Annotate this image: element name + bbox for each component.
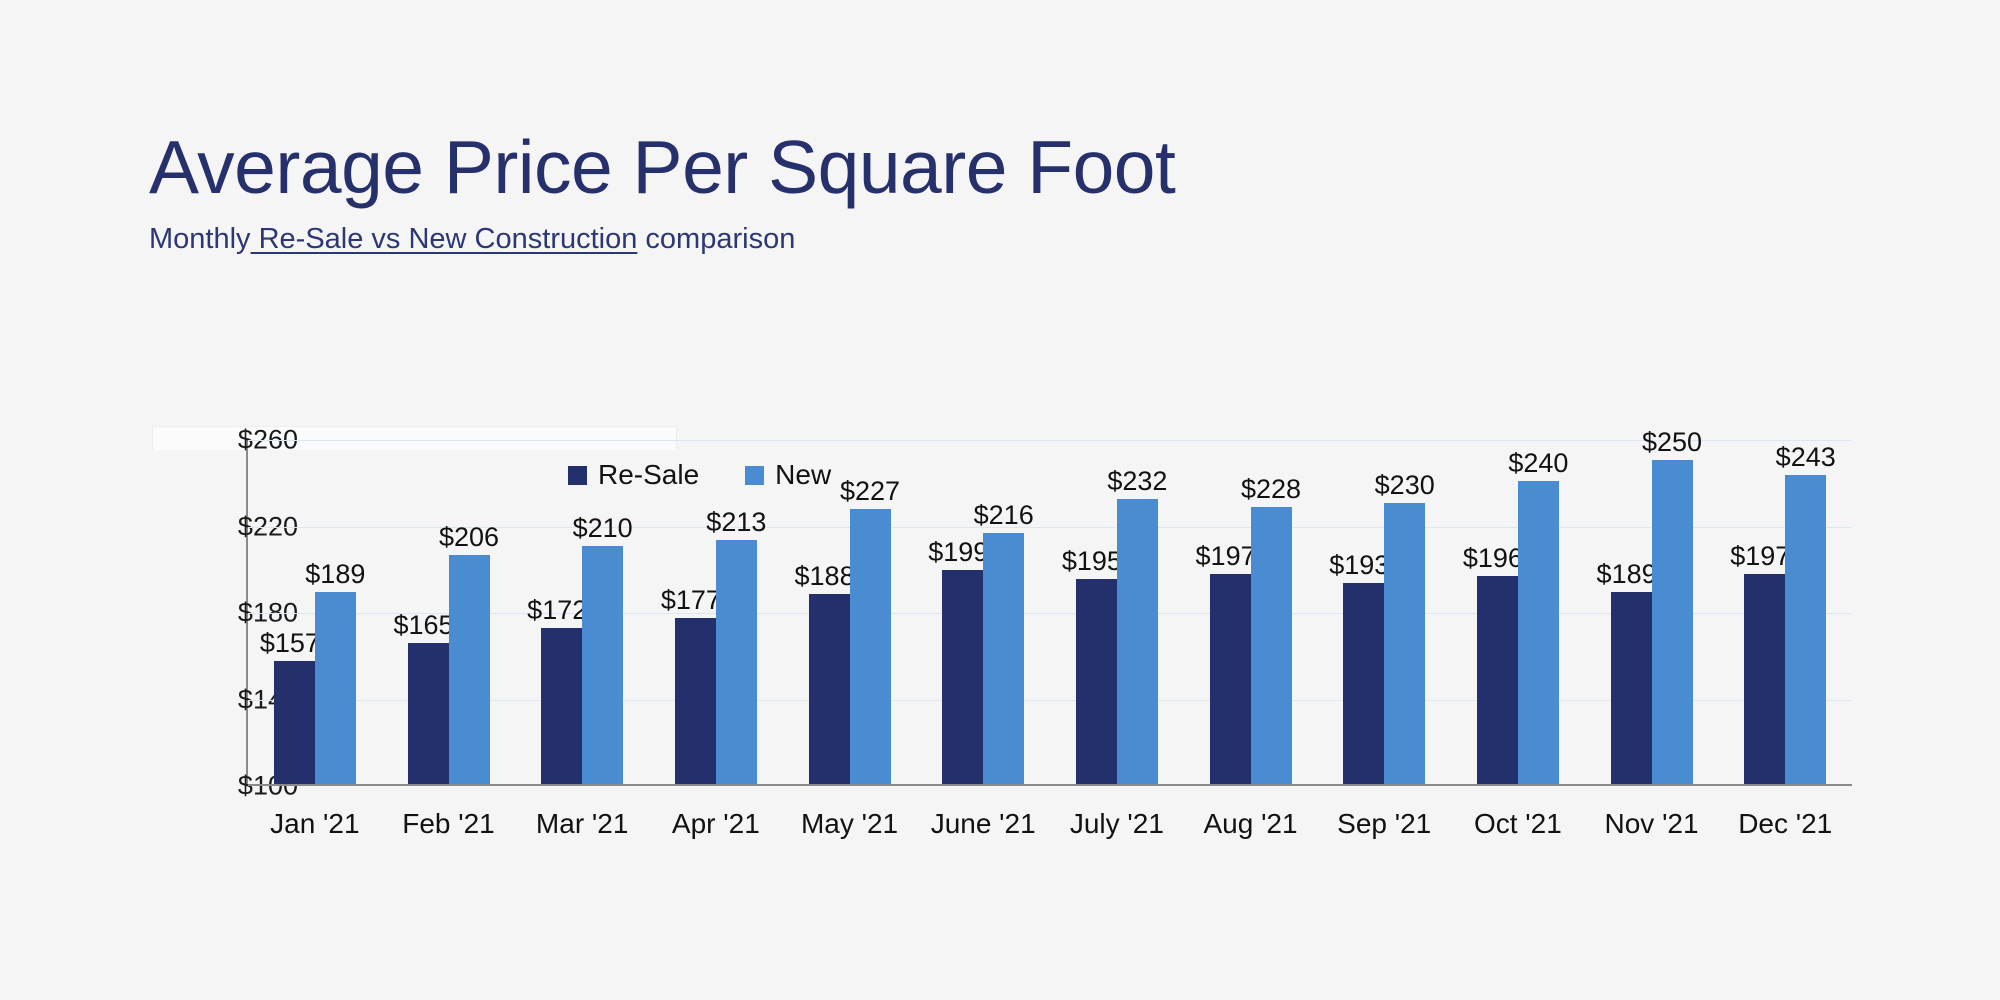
bar-value-label: $197 (1196, 543, 1256, 570)
bar-re-sale[interactable]: $196 (1477, 576, 1518, 784)
bar-new[interactable]: $232 (1117, 499, 1158, 784)
bar-value-label: $189 (305, 561, 365, 588)
bar-value-label: $172 (527, 597, 587, 624)
bar-re-sale[interactable]: $157 (274, 661, 315, 784)
legend-label: Re-Sale (598, 459, 699, 491)
bar-value-label: $232 (1107, 468, 1167, 495)
bar-value-label: $197 (1730, 543, 1790, 570)
bar-value-label: $193 (1329, 552, 1389, 579)
bar-group: $196$240 (1451, 440, 1585, 784)
bar-new[interactable]: $240 (1518, 481, 1559, 784)
bar-re-sale[interactable]: $177 (675, 618, 716, 785)
legend-swatch-icon (745, 466, 764, 485)
bar-new[interactable]: $228 (1251, 507, 1292, 784)
bar-new[interactable]: $250 (1652, 460, 1693, 784)
x-axis-tick: Mar '21 (515, 808, 649, 840)
legend-item-re-sale[interactable]: Re-Sale (568, 459, 699, 491)
bar-value-label: $216 (974, 502, 1034, 529)
bar-new[interactable]: $189 (315, 592, 356, 784)
bar-value-label: $157 (260, 630, 320, 657)
bar-new[interactable]: $230 (1384, 503, 1425, 784)
bar-value-label: $230 (1375, 472, 1435, 499)
bar-group: $177$213 (649, 440, 783, 784)
legend-label: New (775, 459, 831, 491)
x-axis-tick: Feb '21 (382, 808, 516, 840)
x-axis-tick: June '21 (916, 808, 1050, 840)
bar-group: $172$210 (515, 440, 649, 784)
bar-re-sale[interactable]: $199 (942, 570, 983, 784)
page-title: Average Price Per Square Foot (149, 128, 1175, 207)
bar-re-sale[interactable]: $197 (1744, 574, 1785, 784)
bar-group: $195$232 (1050, 440, 1184, 784)
bar-re-sale[interactable]: $172 (541, 628, 582, 784)
bar-value-label: $195 (1062, 548, 1122, 575)
chart-plot-wrapper: $100$140$180$220$260 $157$189$165$206$17… (152, 426, 1852, 796)
plot-area: $157$189$165$206$172$210$177$213$188$227… (248, 440, 1852, 786)
bar-value-label: $189 (1597, 561, 1657, 588)
bar-value-label: $206 (439, 524, 499, 551)
bar-new[interactable]: $216 (983, 533, 1024, 784)
bar-group: $199$216 (916, 440, 1050, 784)
chart-page: Average Price Per Square Foot Monthly Re… (0, 0, 2000, 1000)
chart-legend: Re-SaleNew (568, 459, 831, 491)
bar-new[interactable]: $213 (716, 540, 757, 784)
x-axis-tick: Aug '21 (1184, 808, 1318, 840)
bar-value-label: $243 (1776, 444, 1836, 471)
bar-re-sale[interactable]: $195 (1076, 579, 1117, 784)
bar-value-label: $177 (661, 587, 721, 614)
bar-re-sale[interactable]: $188 (809, 594, 850, 784)
x-axis-tick: Dec '21 (1718, 808, 1852, 840)
bar-new[interactable]: $227 (850, 509, 891, 784)
page-subtitle: Monthly Re-Sale vs New Construction comp… (149, 223, 1175, 256)
subtitle-prefix: Monthly (149, 223, 251, 255)
bar-group: $197$243 (1718, 440, 1852, 784)
bar-re-sale[interactable]: $197 (1210, 574, 1251, 784)
x-axis-tick: Jan '21 (248, 808, 382, 840)
bar-re-sale[interactable]: $189 (1611, 592, 1652, 784)
bar-new[interactable]: $206 (449, 555, 490, 784)
bar-value-label: $228 (1241, 476, 1301, 503)
x-axis-tick: Oct '21 (1451, 808, 1585, 840)
x-axis-baseline (248, 784, 1852, 786)
x-axis-tick: Apr '21 (649, 808, 783, 840)
bar-value-label: $165 (394, 612, 454, 639)
bar-value-label: $213 (706, 509, 766, 536)
subtitle-suffix: comparison (637, 223, 795, 255)
x-axis-tick-labels: Jan '21Feb '21Mar '21Apr '21May '21June … (248, 808, 1852, 840)
bar-value-label: $199 (928, 539, 988, 566)
bar-value-label: $188 (795, 563, 855, 590)
chart-header: Average Price Per Square Foot Monthly Re… (149, 128, 1175, 256)
x-axis-tick: July '21 (1050, 808, 1184, 840)
legend-item-new[interactable]: New (745, 459, 831, 491)
x-axis-tick: May '21 (783, 808, 917, 840)
bar-groups: $157$189$165$206$172$210$177$213$188$227… (248, 440, 1852, 784)
bar-new[interactable]: $210 (582, 546, 623, 784)
subtitle-underlined: Re-Sale vs New Construction (251, 223, 638, 255)
bar-value-label: $240 (1508, 450, 1568, 477)
bar-value-label: $250 (1642, 429, 1702, 456)
bar-group: $188$227 (783, 440, 917, 784)
bar-group: $165$206 (382, 440, 516, 784)
bar-group: $197$228 (1184, 440, 1318, 784)
x-axis-tick: Nov '21 (1585, 808, 1719, 840)
bar-value-label: $227 (840, 478, 900, 505)
bar-re-sale[interactable]: $193 (1343, 583, 1384, 784)
bar-value-label: $196 (1463, 545, 1523, 572)
bar-value-label: $210 (573, 515, 633, 542)
bar-group: $193$230 (1317, 440, 1451, 784)
bar-group: $157$189 (248, 440, 382, 784)
bar-group: $189$250 (1585, 440, 1719, 784)
bar-re-sale[interactable]: $165 (408, 643, 449, 784)
x-axis-tick: Sep '21 (1317, 808, 1451, 840)
legend-swatch-icon (568, 466, 587, 485)
bar-new[interactable]: $243 (1785, 475, 1826, 784)
